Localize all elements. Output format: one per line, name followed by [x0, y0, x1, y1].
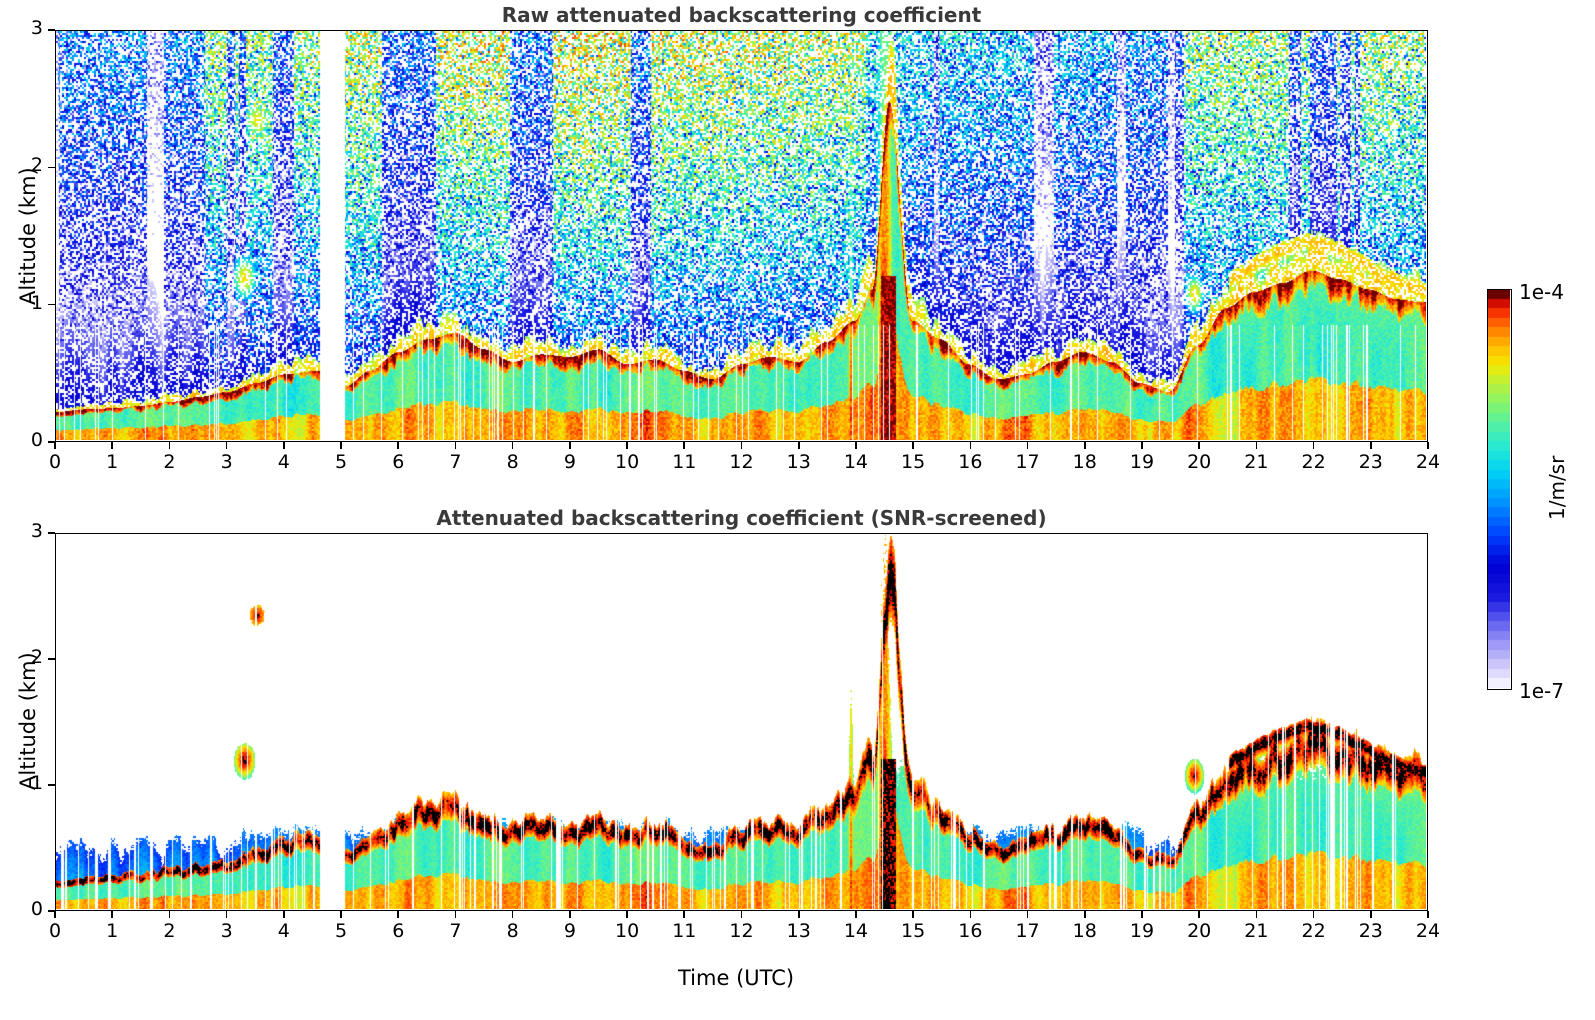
- x-tick-label: 2: [149, 920, 189, 942]
- y-tick-label: 3: [3, 17, 43, 39]
- y-tick-label: 0: [3, 429, 43, 451]
- x-tick-label: 24: [1408, 451, 1448, 473]
- x-tick-label: 2: [149, 451, 189, 473]
- x-tick-mark: [1370, 442, 1372, 449]
- x-tick-mark: [626, 442, 628, 449]
- x-tick-mark: [1370, 911, 1372, 918]
- x-tick-mark: [1084, 442, 1086, 449]
- x-tick-label: 10: [607, 920, 647, 942]
- panel-title-raw: Raw attenuated backscattering coefficien…: [55, 3, 1428, 27]
- x-tick-mark: [226, 442, 228, 449]
- x-tick-mark: [397, 442, 399, 449]
- x-tick-mark: [340, 911, 342, 918]
- x-tick-label: 10: [607, 451, 647, 473]
- x-tick-label: 5: [321, 451, 361, 473]
- x-tick-mark: [455, 442, 457, 449]
- x-tick-mark: [54, 442, 56, 449]
- y-tick-label: 3: [3, 520, 43, 542]
- x-tick-mark: [283, 911, 285, 918]
- x-tick-mark: [1027, 442, 1029, 449]
- x-tick-mark: [912, 911, 914, 918]
- x-tick-label: 3: [207, 920, 247, 942]
- colorbar-max-label: 1e-4: [1519, 280, 1564, 304]
- x-tick-label: 24: [1408, 920, 1448, 942]
- x-tick-mark: [798, 911, 800, 918]
- x-tick-mark: [1198, 911, 1200, 918]
- x-tick-mark: [54, 911, 56, 918]
- x-tick-mark: [970, 911, 972, 918]
- x-tick-label: 8: [493, 920, 533, 942]
- x-tick-label: 16: [950, 451, 990, 473]
- x-tick-mark: [169, 911, 171, 918]
- x-tick-label: 9: [550, 920, 590, 942]
- y-tick-mark: [48, 532, 55, 534]
- y-tick-label: 1: [3, 292, 43, 314]
- x-axis-title: Time (UTC): [678, 966, 794, 990]
- x-tick-label: 14: [836, 451, 876, 473]
- x-tick-mark: [683, 442, 685, 449]
- x-tick-mark: [1313, 442, 1315, 449]
- plot-area-raw: [55, 30, 1428, 442]
- x-tick-label: 12: [722, 451, 762, 473]
- y-axis-title-screened: Altitude (km): [16, 652, 40, 790]
- x-tick-mark: [1427, 442, 1429, 449]
- x-tick-label: 17: [1008, 451, 1048, 473]
- x-tick-mark: [970, 442, 972, 449]
- x-tick-label: 18: [1065, 451, 1105, 473]
- x-tick-label: 7: [435, 451, 475, 473]
- y-tick-label: 1: [3, 772, 43, 794]
- x-tick-label: 22: [1294, 451, 1334, 473]
- y-tick-label: 2: [3, 646, 43, 668]
- x-tick-mark: [855, 911, 857, 918]
- panel-title-screened: Attenuated backscattering coefficient (S…: [55, 506, 1428, 530]
- plot-area-screened: [55, 533, 1428, 911]
- y-tick-mark: [48, 910, 55, 912]
- y-tick-mark: [48, 29, 55, 31]
- x-tick-mark: [569, 911, 571, 918]
- x-tick-mark: [512, 911, 514, 918]
- x-tick-label: 11: [664, 451, 704, 473]
- x-tick-label: 17: [1008, 920, 1048, 942]
- x-tick-mark: [1256, 911, 1258, 918]
- y-axis-title-raw: Altitude (km): [16, 167, 40, 305]
- colorbar: [1487, 289, 1512, 690]
- x-tick-label: 11: [664, 920, 704, 942]
- x-tick-mark: [626, 911, 628, 918]
- x-tick-mark: [226, 911, 228, 918]
- x-tick-mark: [569, 442, 571, 449]
- x-tick-mark: [111, 911, 113, 918]
- x-tick-label: 9: [550, 451, 590, 473]
- x-tick-mark: [1198, 442, 1200, 449]
- y-tick-mark: [48, 441, 55, 443]
- x-tick-label: 8: [493, 451, 533, 473]
- x-tick-label: 0: [35, 451, 75, 473]
- y-tick-mark: [48, 784, 55, 786]
- x-tick-label: 15: [893, 451, 933, 473]
- heatmap-screened: [56, 534, 1426, 909]
- x-tick-mark: [855, 442, 857, 449]
- x-tick-mark: [1256, 442, 1258, 449]
- x-tick-mark: [683, 911, 685, 918]
- x-tick-label: 20: [1179, 451, 1219, 473]
- x-tick-label: 4: [264, 451, 304, 473]
- colorbar-min-label: 1e-7: [1519, 679, 1564, 703]
- x-tick-mark: [1313, 911, 1315, 918]
- x-tick-label: 0: [35, 920, 75, 942]
- y-tick-label: 2: [3, 154, 43, 176]
- y-tick-label: 0: [3, 898, 43, 920]
- x-tick-mark: [912, 442, 914, 449]
- x-tick-mark: [397, 911, 399, 918]
- x-tick-label: 5: [321, 920, 361, 942]
- x-tick-label: 1: [92, 920, 132, 942]
- x-tick-mark: [283, 442, 285, 449]
- x-tick-mark: [340, 442, 342, 449]
- figure-canvas: Raw attenuated backscattering coefficien…: [0, 0, 1595, 1020]
- x-tick-label: 21: [1236, 920, 1276, 942]
- x-tick-label: 4: [264, 920, 304, 942]
- x-tick-mark: [455, 911, 457, 918]
- x-tick-mark: [1141, 442, 1143, 449]
- y-tick-mark: [48, 167, 55, 169]
- x-tick-label: 3: [207, 451, 247, 473]
- x-tick-label: 15: [893, 920, 933, 942]
- x-tick-mark: [741, 911, 743, 918]
- x-tick-label: 22: [1294, 920, 1334, 942]
- x-tick-label: 6: [378, 451, 418, 473]
- x-tick-label: 23: [1351, 920, 1391, 942]
- x-tick-mark: [169, 442, 171, 449]
- colorbar-title: 1/m/sr: [1545, 456, 1569, 520]
- x-tick-mark: [741, 442, 743, 449]
- x-tick-mark: [512, 442, 514, 449]
- x-tick-label: 12: [722, 920, 762, 942]
- x-tick-label: 13: [779, 920, 819, 942]
- x-tick-label: 1: [92, 451, 132, 473]
- x-tick-label: 23: [1351, 451, 1391, 473]
- y-tick-mark: [48, 304, 55, 306]
- x-tick-label: 18: [1065, 920, 1105, 942]
- x-tick-label: 21: [1236, 451, 1276, 473]
- x-tick-mark: [1027, 911, 1029, 918]
- x-tick-label: 14: [836, 920, 876, 942]
- x-tick-label: 6: [378, 920, 418, 942]
- x-tick-mark: [1427, 911, 1429, 918]
- x-tick-label: 13: [779, 451, 819, 473]
- heatmap-raw: [56, 31, 1426, 440]
- x-tick-label: 20: [1179, 920, 1219, 942]
- x-tick-label: 19: [1122, 920, 1162, 942]
- x-tick-label: 16: [950, 920, 990, 942]
- x-tick-label: 19: [1122, 451, 1162, 473]
- x-tick-mark: [798, 442, 800, 449]
- x-tick-mark: [111, 442, 113, 449]
- x-tick-label: 7: [435, 920, 475, 942]
- colorbar-gradient: [1488, 290, 1510, 688]
- y-tick-mark: [48, 658, 55, 660]
- x-tick-mark: [1084, 911, 1086, 918]
- x-tick-mark: [1141, 911, 1143, 918]
